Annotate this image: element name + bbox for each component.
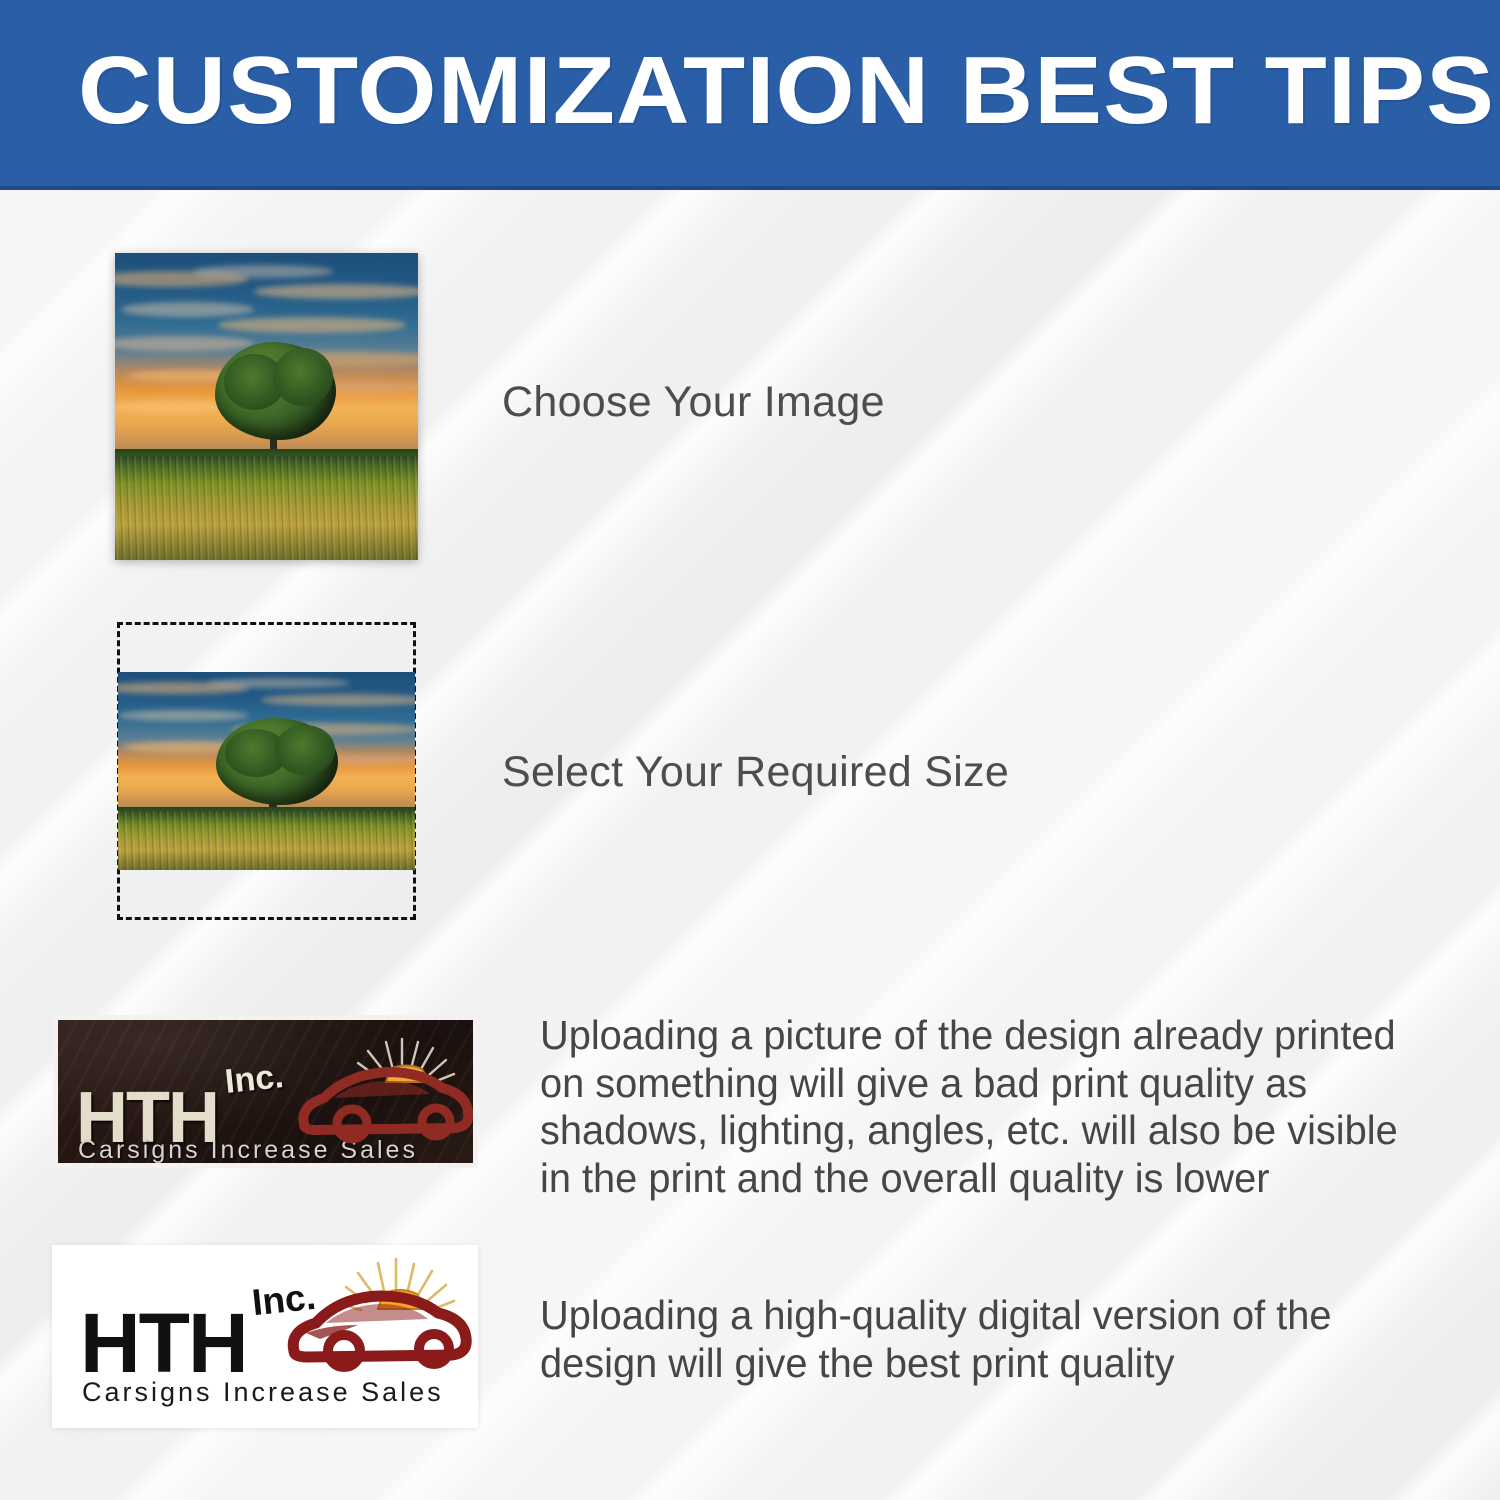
good-upload-line-2: design will give the best print quality — [540, 1340, 1413, 1388]
cloud — [194, 265, 333, 277]
logo-inc-text-dark: Inc. — [223, 1059, 285, 1099]
good-upload-line-1: Uploading a high-quality digital version… — [540, 1292, 1413, 1340]
infographic-canvas: CUSTOMIZATION BEST TIPS Choose Your Imag… — [0, 0, 1500, 1500]
bad-upload-line-1: Uploading a picture of the design alread… — [540, 1012, 1442, 1060]
car-beacon-icon-dark — [290, 1036, 475, 1144]
landscape-scene-cropped — [118, 672, 415, 870]
cloud — [207, 678, 350, 688]
bad-upload-line-3: shadows, lighting, angles, etc. will als… — [540, 1107, 1442, 1155]
logo-tagline-light: Carsigns Increase Sales — [82, 1379, 444, 1406]
page-title: CUSTOMIZATION BEST TIPS — [78, 36, 1495, 146]
cloud — [218, 317, 406, 332]
step-label-choose-image: Choose Your Image — [502, 378, 885, 427]
bad-upload-line-4: in the print and the overall quality is … — [540, 1155, 1442, 1203]
cloud — [261, 694, 415, 706]
landscape-scene — [115, 253, 418, 560]
step-label-select-size: Select Your Required Size — [502, 748, 1009, 797]
bad-upload-line-2: on something will give a bad print quali… — [540, 1060, 1442, 1108]
landscape-photo-square — [115, 253, 418, 560]
printed-banner-photo: HTH Inc. Carsigns Increase Sales — [53, 1015, 478, 1168]
digital-logo-image: HTH Inc. Carsigns Increase Sales — [52, 1245, 478, 1428]
cloud — [254, 284, 418, 299]
car-beacon-icon-light — [280, 1255, 475, 1373]
landscape-photo-cropped — [118, 672, 415, 870]
wheat-field — [115, 456, 418, 560]
step-text-bad-upload: Uploading a picture of the design alread… — [540, 1012, 1442, 1202]
step-text-good-upload: Uploading a high-quality digital version… — [540, 1292, 1413, 1387]
cloud — [115, 400, 230, 412]
wheat-field — [118, 811, 415, 870]
header-banner: CUSTOMIZATION BEST TIPS — [0, 0, 1500, 190]
logo-brand-text-light: HTH — [80, 1301, 247, 1385]
tree-canopy-detail — [275, 725, 334, 775]
